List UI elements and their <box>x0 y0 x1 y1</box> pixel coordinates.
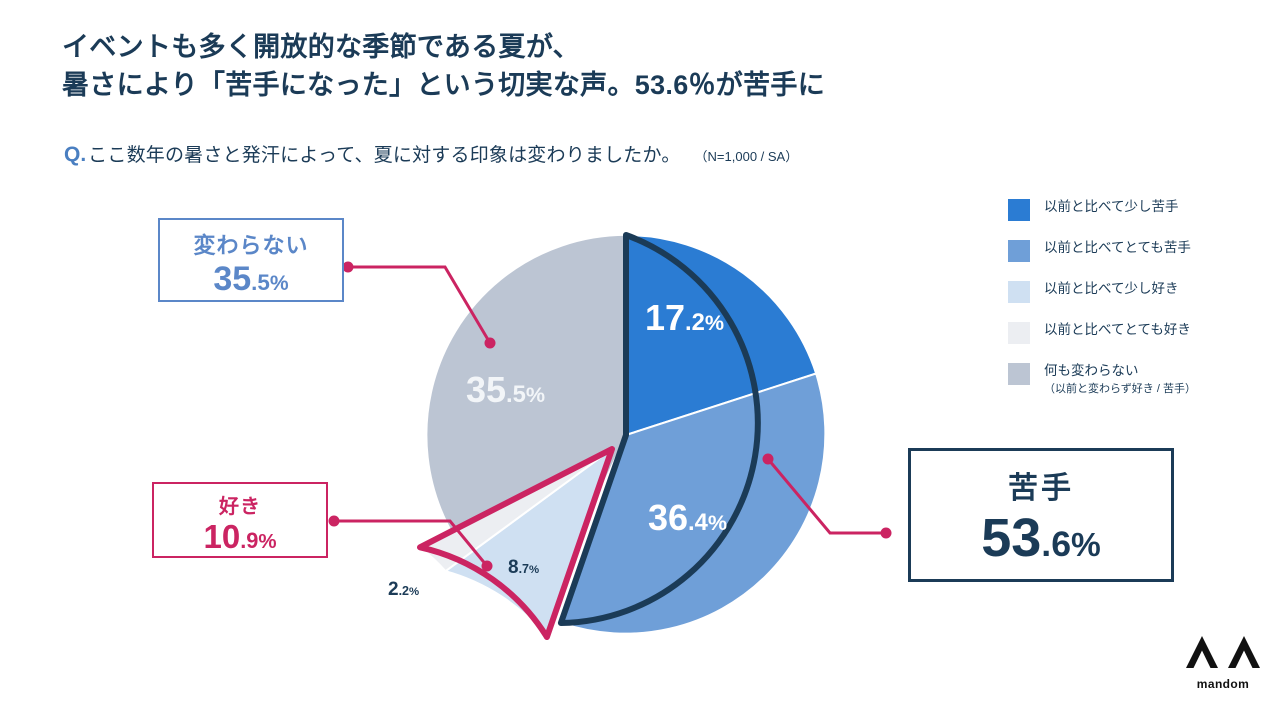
callout-dislike: 苦手 53.6% <box>908 448 1174 582</box>
legend-label-very-like: 以前と比べてとても好き <box>1044 321 1191 339</box>
legend-item-very-like: 以前と比べてとても好き <box>1008 321 1274 344</box>
slice-label-unchanged: 35.5% <box>466 372 545 408</box>
sample-size-note: （N=1,000 / SA） <box>695 146 799 165</box>
question-text: ここ数年の暑さと発汗によって、夏に対する印象は変わりましたか。 <box>88 140 680 167</box>
leader-dot-like-box <box>329 516 340 527</box>
slice-label-slightly-like: 8.7% <box>508 558 539 577</box>
like-group <box>420 449 612 637</box>
title-line-2: 暑さにより「苦手になった」という切実な声。53.6％が苦手に <box>62 66 1162 104</box>
legend-swatch-very-dislike <box>1008 240 1030 262</box>
infographic-slide: イベントも多く開放的な季節である夏が、 暑さにより「苦手になった」という切実な声… <box>0 0 1280 720</box>
callout-unchanged: 変わらない 35.5% <box>158 218 344 302</box>
slice-label-very-dislike: 36.4% <box>648 500 727 536</box>
mandom-chevrons-icon <box>1182 634 1264 670</box>
like-group-outline <box>420 449 612 637</box>
brand-name: mandom <box>1182 677 1264 691</box>
leader-dot-unchanged-box <box>343 262 354 273</box>
leader-dots <box>329 262 892 572</box>
callout-dislike-value: 53.6% <box>911 511 1171 565</box>
legend-item-very-dislike: 以前と比べてとても苦手 <box>1008 239 1274 262</box>
title-line-1: イベントも多く開放的な季節である夏が、 <box>62 32 580 62</box>
legend-swatch-slightly-like <box>1008 281 1030 303</box>
legend-label-slightly-dislike: 以前と比べて少し苦手 <box>1044 198 1178 216</box>
slice-very-like <box>420 449 612 571</box>
leader-dot-unchanged-pie <box>485 338 496 349</box>
callout-like-label: 好き <box>154 490 326 519</box>
leader-dislike <box>768 459 886 533</box>
leader-lines <box>334 267 886 566</box>
slice-label-slightly-dislike: 17.2% <box>645 300 724 336</box>
callout-unchanged-label: 変わらない <box>160 228 342 260</box>
legend-item-slightly-like: 以前と比べて少し好き <box>1008 280 1274 303</box>
legend-label-unchanged-main: 何も変わらない <box>1044 363 1139 378</box>
leader-unchanged <box>348 267 490 343</box>
callout-like-value: 10.9% <box>154 520 326 553</box>
legend-swatch-very-like <box>1008 322 1030 344</box>
legend-label-very-dislike: 以前と比べてとても苦手 <box>1044 239 1191 257</box>
legend-label-unchanged: 何も変わらない （以前と変わらず好き / 苦手） <box>1044 362 1196 397</box>
legend-label-slightly-like: 以前と比べて少し好き <box>1044 280 1178 298</box>
callout-unchanged-value: 35.5% <box>160 262 342 296</box>
callout-dislike-label: 苦手 <box>911 463 1171 507</box>
callout-like: 好き 10.9% <box>152 482 328 558</box>
leader-like <box>334 521 487 566</box>
leader-dot-dislike-box <box>881 528 892 539</box>
legend-swatch-unchanged <box>1008 363 1030 385</box>
page-title: イベントも多く開放的な季節である夏が、 暑さにより「苦手になった」という切実な声… <box>62 28 1162 105</box>
question-marker: Q. <box>64 143 86 167</box>
question-row: Q. ここ数年の暑さと発汗によって、夏に対する印象は変わりましたか。 （N=1,… <box>64 140 798 167</box>
legend-swatch-slightly-dislike <box>1008 199 1030 221</box>
legend-item-unchanged: 何も変わらない （以前と変わらず好き / 苦手） <box>1008 362 1274 397</box>
leader-dot-dislike-pie <box>763 454 774 465</box>
dislike-group-outline <box>561 235 758 623</box>
legend-item-slightly-dislike: 以前と比べて少し苦手 <box>1008 198 1274 221</box>
slice-label-very-like: 2.2% <box>388 580 419 599</box>
legend-label-unchanged-sub: （以前と変わらず好き / 苦手） <box>1044 382 1196 397</box>
slice-slightly-like <box>446 449 613 637</box>
pie-slices <box>420 235 825 637</box>
chart-legend: 以前と比べて少し苦手 以前と比べてとても苦手 以前と比べて少し好き 以前と比べて… <box>1008 198 1274 415</box>
leader-dot-like-pie <box>482 561 493 572</box>
brand-logo: mandom <box>1182 634 1264 691</box>
